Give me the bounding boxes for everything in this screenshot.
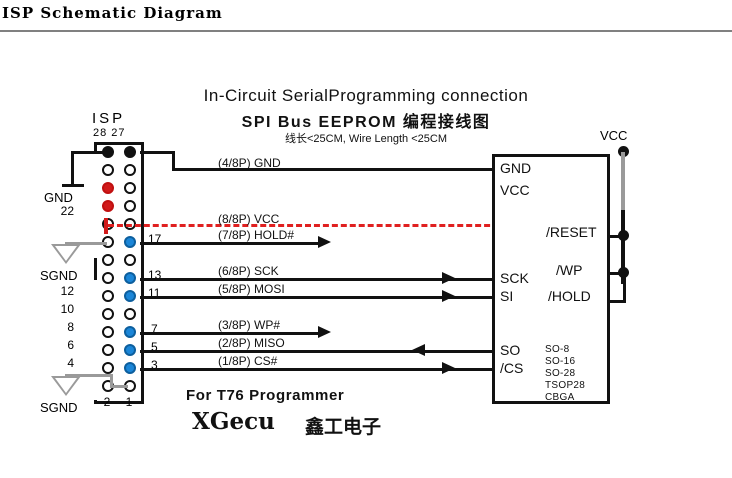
chip-pin-si: SI <box>500 288 513 304</box>
pin-15[interactable] <box>124 254 136 266</box>
hold-rail-vertical <box>623 272 626 302</box>
chip-package-so16: SO-16 <box>545 356 575 367</box>
chip-pin-cs: /CS <box>500 360 523 376</box>
signal-label-hold: (7/8P) HOLD# <box>218 228 294 242</box>
pin-7[interactable] <box>124 326 136 338</box>
pin-21[interactable] <box>124 200 136 212</box>
footer-brand-chinese: 鑫工电子 <box>305 412 381 439</box>
pin-24[interactable] <box>102 182 114 194</box>
left-pin-label-22: 22 <box>44 204 74 218</box>
signal-label-gnd: (4/8P) GND <box>218 156 281 170</box>
pin-14[interactable] <box>102 272 114 284</box>
sgnd-lower-wire-to-pin1 <box>110 385 128 388</box>
hold-arrow-icon <box>318 236 331 248</box>
connector-notch-lower <box>91 280 97 400</box>
pin-23[interactable] <box>124 182 136 194</box>
footer-programmer-label: For T76 Programmer <box>186 387 344 404</box>
pin-4[interactable] <box>102 362 114 374</box>
sgnd-upper-label: SGND <box>40 268 78 283</box>
wp-arrow-icon <box>318 326 331 338</box>
pin-25[interactable] <box>124 164 136 176</box>
connector-name-label: ISP <box>92 110 125 127</box>
pin-16[interactable] <box>102 254 114 266</box>
signal-label-sck: (6/8P) SCK <box>218 264 279 278</box>
chip-package-so8: SO-8 <box>545 344 570 355</box>
chip-pin-wp: /WP <box>556 262 582 278</box>
schematic-canvas: In-Circuit SerialProgramming connection … <box>0 32 732 478</box>
left-pin-label-12: 12 <box>44 284 74 298</box>
signal-label-mosi: (5/8P) MOSI <box>218 282 285 296</box>
wp-net <box>140 332 320 335</box>
left-pin-label-4: 4 <box>44 356 74 370</box>
connector-bottom-pin-1-label: 1 <box>120 395 138 409</box>
chip-pin-hold: /HOLD <box>548 288 591 304</box>
connector-bottom-pin-2-label: 2 <box>98 395 116 409</box>
chip-package-cbga: CBGA <box>545 392 575 403</box>
signal-label-miso: (2/8P) MISO <box>218 336 285 350</box>
signal-label-wp: (3/8P) WP# <box>218 318 280 332</box>
hold-net <box>140 242 320 245</box>
pin-13[interactable] <box>124 272 136 284</box>
chip-pin-sck: SCK <box>500 270 529 286</box>
pin-8[interactable] <box>102 326 114 338</box>
miso-net <box>140 350 494 353</box>
signal-label-vcc: (8/8P) VCC <box>218 212 279 226</box>
vcc-rail-label: VCC <box>600 128 627 143</box>
pin-6[interactable] <box>102 344 114 356</box>
cs-net <box>140 368 494 371</box>
pin-12[interactable] <box>102 290 114 302</box>
connector-top-pin-numbers: 28 27 <box>93 127 126 139</box>
mosi-net <box>140 296 494 299</box>
diagram-heading-line1: In-Circuit SerialProgramming connection <box>0 86 732 106</box>
pin-10[interactable] <box>102 308 114 320</box>
page-title: ISP Schematic Diagram <box>2 4 223 22</box>
pin-5[interactable] <box>124 344 136 356</box>
pin-11[interactable] <box>124 290 136 302</box>
sgnd-upper-triangle-inner <box>55 246 77 261</box>
vcc-rail-gray-segment <box>621 152 625 212</box>
gnd-wire <box>71 151 106 154</box>
chip-package-tsop28: TSOP28 <box>545 380 585 391</box>
mosi-arrow-icon <box>442 290 455 302</box>
chip-pin-gnd: GND <box>500 160 531 176</box>
signal-label-cs: (1/8P) CS# <box>218 354 277 368</box>
sgnd-lower-triangle-inner <box>55 378 77 393</box>
reset-junction-dot <box>618 230 629 241</box>
gnd-symbol-bar <box>62 184 84 187</box>
pin-3[interactable] <box>124 362 136 374</box>
chip-pin-reset: /RESET <box>546 224 597 240</box>
pin-17[interactable] <box>124 236 136 248</box>
sck-net <box>140 278 494 281</box>
sgnd-lower-label: SGND <box>40 400 78 415</box>
pin-27[interactable] <box>124 146 136 158</box>
miso-arrow-icon <box>412 344 425 356</box>
pin-26[interactable] <box>102 164 114 176</box>
gnd-net-top <box>140 151 175 154</box>
left-pin-label-10: 10 <box>44 302 74 316</box>
chip-package-so28: SO-28 <box>545 368 575 379</box>
gnd-wire-vertical <box>71 151 74 175</box>
vcc-net-dashed <box>108 224 508 227</box>
window-title-bar: ISP Schematic Diagram <box>0 0 732 30</box>
chip-pin-so: SO <box>500 342 520 358</box>
gnd-label: GND <box>44 190 73 205</box>
left-pin-label-8: 8 <box>44 320 74 334</box>
left-pin-label-6: 6 <box>44 338 74 352</box>
cs-arrow-icon <box>442 362 455 374</box>
footer-brand-logo: XGecu <box>192 408 275 435</box>
pin-9[interactable] <box>124 308 136 320</box>
sck-arrow-icon <box>442 272 455 284</box>
chip-pin-vcc: VCC <box>500 182 530 198</box>
pin-22[interactable] <box>102 200 114 212</box>
